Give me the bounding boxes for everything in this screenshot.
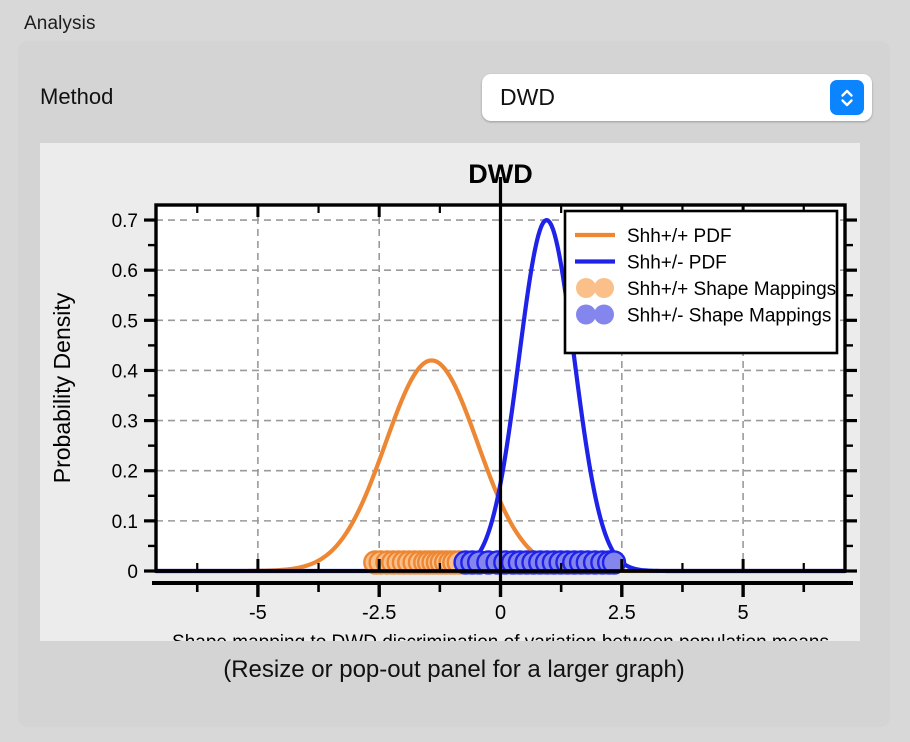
method-label: Method xyxy=(40,84,113,110)
legend-label: Shh+/+ Shape Mappings xyxy=(627,279,836,300)
method-selected-value: DWD xyxy=(500,84,555,111)
y-tick-label: 0.4 xyxy=(112,361,139,382)
x-tick-label: -5 xyxy=(249,602,267,624)
legend-label: Shh+/+ PDF xyxy=(627,226,732,247)
x-tick-label: 0 xyxy=(495,602,506,624)
chevron-up-down-icon[interactable] xyxy=(830,80,864,115)
analysis-group-box: Method DWD DWD00.10.20.30.40.50.60.7Prob… xyxy=(18,41,890,727)
legend-marker-swatch xyxy=(576,278,596,298)
y-tick-label: 0 xyxy=(127,562,138,583)
method-row: Method DWD xyxy=(40,74,876,126)
chart-legend: Shh+/+ PDFShh+/- PDFShh+/+ Shape Mapping… xyxy=(565,211,837,353)
y-tick-label: 0.7 xyxy=(112,211,138,232)
y-tick-label: 0.3 xyxy=(112,412,138,433)
x-tick-label: 2.5 xyxy=(608,602,636,624)
y-tick-label: 0.5 xyxy=(112,311,138,332)
resize-hint: (Resize or pop-out panel for a larger gr… xyxy=(18,656,890,684)
x-axis-label: Shape mapping to DWD discrimination of v… xyxy=(172,632,829,641)
group-label: Analysis xyxy=(24,13,96,35)
legend-marker-swatch xyxy=(594,278,614,298)
legend-marker-swatch xyxy=(576,305,596,325)
legend-marker-swatch xyxy=(594,305,614,325)
y-tick-label: 0.6 xyxy=(112,261,138,282)
legend-label: Shh+/- Shape Mappings xyxy=(627,306,831,327)
y-axis-label: Probability Density xyxy=(49,292,75,483)
y-tick-label: 0.1 xyxy=(112,512,138,533)
chart-panel: DWD00.10.20.30.40.50.60.7Probability Den… xyxy=(40,143,860,641)
x-tick-label: 5 xyxy=(738,602,749,624)
y-tick-label: 0.2 xyxy=(112,462,138,483)
method-dropdown[interactable]: DWD xyxy=(482,74,872,121)
x-tick-label: -2.5 xyxy=(362,602,396,624)
pdf-chart: DWD00.10.20.30.40.50.60.7Probability Den… xyxy=(40,143,860,641)
legend-label: Shh+/- PDF xyxy=(627,253,727,274)
